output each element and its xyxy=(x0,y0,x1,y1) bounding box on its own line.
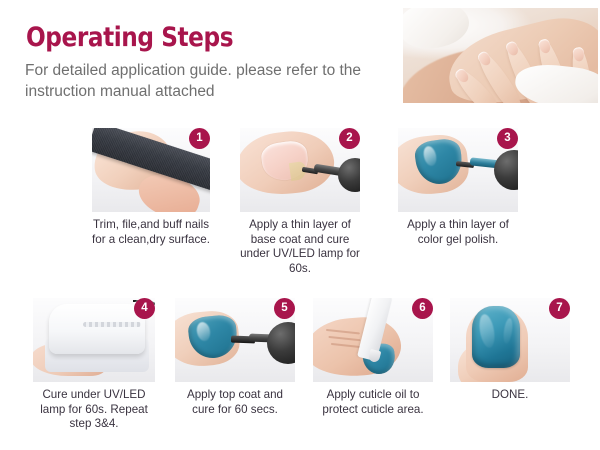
step-card-4: 4 Cure under UV/LED lamp for 60s. Repeat… xyxy=(33,298,155,432)
hero-nail xyxy=(537,38,552,55)
step-badge-2: 2 xyxy=(339,128,360,149)
finished-gel-nail xyxy=(472,306,520,368)
step-badge-6: 6 xyxy=(412,298,433,319)
hero-nail xyxy=(504,40,520,57)
step-5-image: 5 xyxy=(175,298,295,382)
uv-lamp-icon xyxy=(49,304,145,354)
step-6-caption: Apply cuticle oil to protect cuticle are… xyxy=(313,388,433,417)
step-2-caption: Apply a thin layer of base coat and cure… xyxy=(240,218,360,276)
step-4-caption: Cure under UV/LED lamp for 60s. Repeat s… xyxy=(33,388,155,432)
hero-nail xyxy=(453,67,471,85)
step-2-image: 2 xyxy=(240,128,360,212)
operating-steps-infographic: Operating Steps For detailed application… xyxy=(0,0,600,450)
hero-image xyxy=(403,8,598,103)
hero-nail xyxy=(476,50,493,68)
step-card-2: 2 Apply a thin layer of base coat and cu… xyxy=(240,128,360,276)
page-subtitle: For detailed application guide. please r… xyxy=(25,60,395,102)
step-6-image: 6 xyxy=(313,298,433,382)
step-4-image: 4 xyxy=(33,298,155,382)
knuckle-line xyxy=(326,329,360,335)
step-3-image: 3 xyxy=(398,128,518,212)
step-badge-7: 7 xyxy=(549,298,570,319)
knuckle-line xyxy=(331,343,361,348)
step-badge-5: 5 xyxy=(274,298,295,319)
page-title: Operating Steps xyxy=(26,22,233,53)
step-7-image: 7 xyxy=(450,298,570,382)
step-card-1: 1 Trim, file,and buff nails for a clean,… xyxy=(92,128,210,247)
step-card-7: 7 DONE. xyxy=(450,298,570,403)
hero-nail xyxy=(572,47,585,62)
step-1-caption: Trim, file,and buff nails for a clean,dr… xyxy=(92,218,210,247)
step-card-6: 6 Apply cuticle oil to protect cuticle a… xyxy=(313,298,433,417)
step-badge-1: 1 xyxy=(189,128,210,149)
step-badge-3: 3 xyxy=(497,128,518,149)
step-7-caption: DONE. xyxy=(450,388,570,403)
header: Operating Steps For detailed application… xyxy=(0,0,600,118)
step-card-3: 3 Apply a thin layer of color gel polish… xyxy=(398,128,518,247)
step-3-caption: Apply a thin layer of color gel polish. xyxy=(398,218,518,247)
step-badge-4: 4 xyxy=(134,298,155,319)
knuckle-line xyxy=(328,336,360,341)
step-card-5: 5 Apply top coat and cure for 60 secs. xyxy=(175,298,295,417)
step-1-image: 1 xyxy=(92,128,210,212)
step-5-caption: Apply top coat and cure for 60 secs. xyxy=(175,388,295,417)
